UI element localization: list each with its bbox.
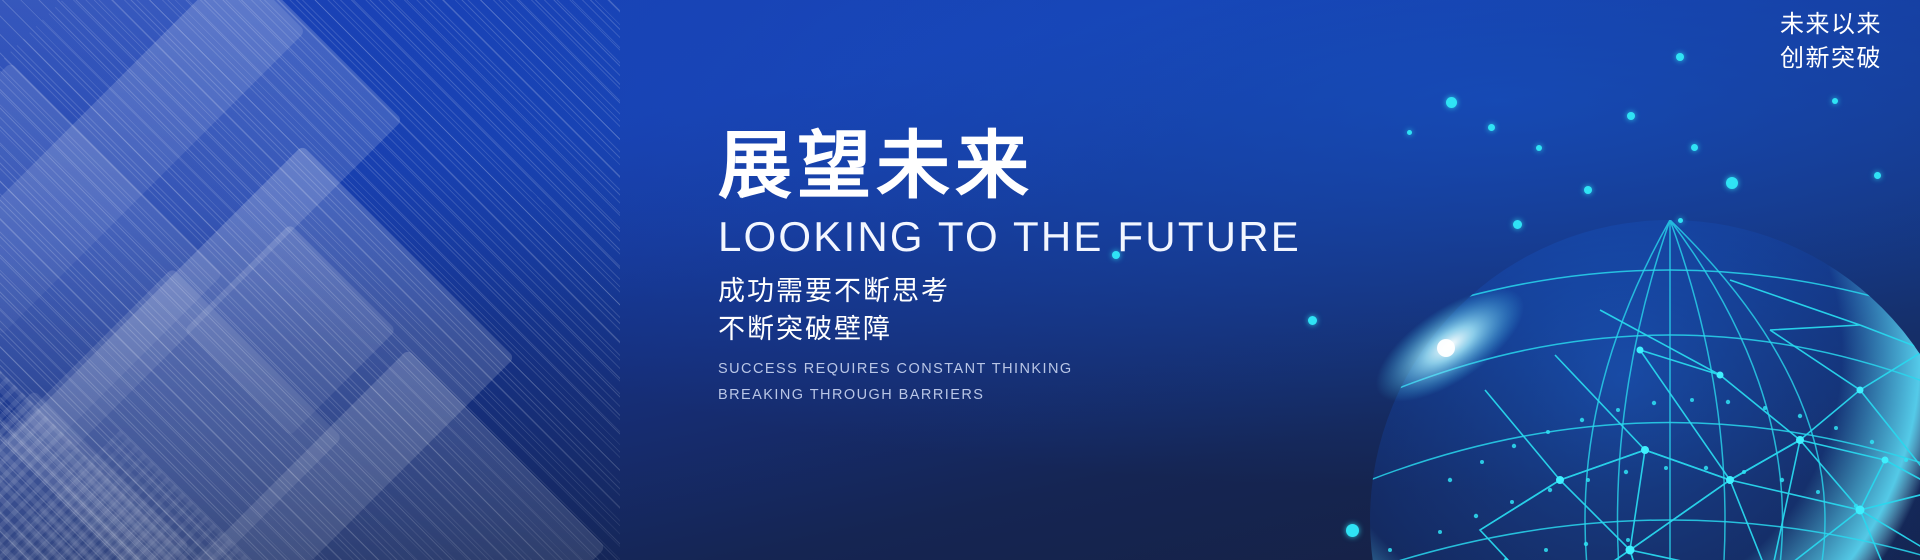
- decor-rectangle: [5, 145, 514, 560]
- page-title: 展望未来: [718, 128, 1278, 203]
- corner-slogan: 未来以来 创新突破: [1780, 8, 1882, 76]
- halftone-dot-grid-icon: [0, 330, 257, 560]
- decor-rectangle: [0, 390, 190, 560]
- accent-dot: [1536, 145, 1542, 151]
- page-subtitle-en: LOOKING TO THE FUTURE: [718, 215, 1278, 259]
- accent-dot: [1691, 144, 1698, 151]
- accent-dot: [1627, 112, 1635, 120]
- corner-slogan-line2: 创新突破: [1780, 42, 1882, 76]
- diagonal-hairlines-icon: [0, 0, 620, 560]
- accent-dot: [1584, 186, 1592, 194]
- promo-banner: 未来以来 创新突破 展望未来 LOOKING TO THE FUTURE 成功需…: [0, 0, 1920, 560]
- accent-dot: [1407, 130, 1412, 135]
- tagline-cn-line1: 成功需要不断思考: [718, 272, 1278, 310]
- decor-rectangle: [0, 0, 402, 452]
- tagline-cn: 成功需要不断思考 不断突破壁障: [718, 272, 1278, 349]
- accent-dot: [1346, 524, 1359, 537]
- accent-dot: [1726, 177, 1738, 189]
- accent-dot: [1308, 316, 1317, 325]
- accent-dot: [1446, 97, 1457, 108]
- decor-rectangle: [0, 62, 223, 507]
- globe-flare-icon: [1359, 267, 1542, 423]
- globe-svg: [1300, 150, 1920, 560]
- accent-dot: [1676, 53, 1684, 61]
- decor-rectangle: [0, 268, 342, 560]
- decor-rectangle: [0, 0, 305, 335]
- corner-slogan-line1: 未来以来: [1780, 8, 1882, 42]
- accent-dot: [1832, 98, 1838, 104]
- tagline-cn-line2: 不断突破壁障: [718, 310, 1278, 348]
- accent-dot: [1488, 124, 1495, 131]
- tagline-en: SUCCESS REQUIRES CONSTANT THINKING BREAK…: [718, 357, 1278, 408]
- headline-block: 展望未来 LOOKING TO THE FUTURE 成功需要不断思考 不断突破…: [718, 128, 1278, 408]
- decor-rectangle: [174, 349, 605, 560]
- diagonal-hairlines-icon: [0, 0, 620, 560]
- tagline-en-line2: BREAKING THROUGH BARRIERS: [718, 383, 1278, 408]
- tagline-en-line1: SUCCESS REQUIRES CONSTANT THINKING: [718, 357, 1278, 382]
- accent-dot: [1678, 218, 1683, 223]
- accent-dot: [1513, 220, 1522, 229]
- accent-dot: [1874, 172, 1881, 179]
- wireframe-globe: [1300, 150, 1920, 560]
- halftone-dot-grid-icon: [0, 430, 360, 560]
- decor-rectangle: [184, 224, 396, 436]
- left-geometric-decoration: [0, 0, 620, 560]
